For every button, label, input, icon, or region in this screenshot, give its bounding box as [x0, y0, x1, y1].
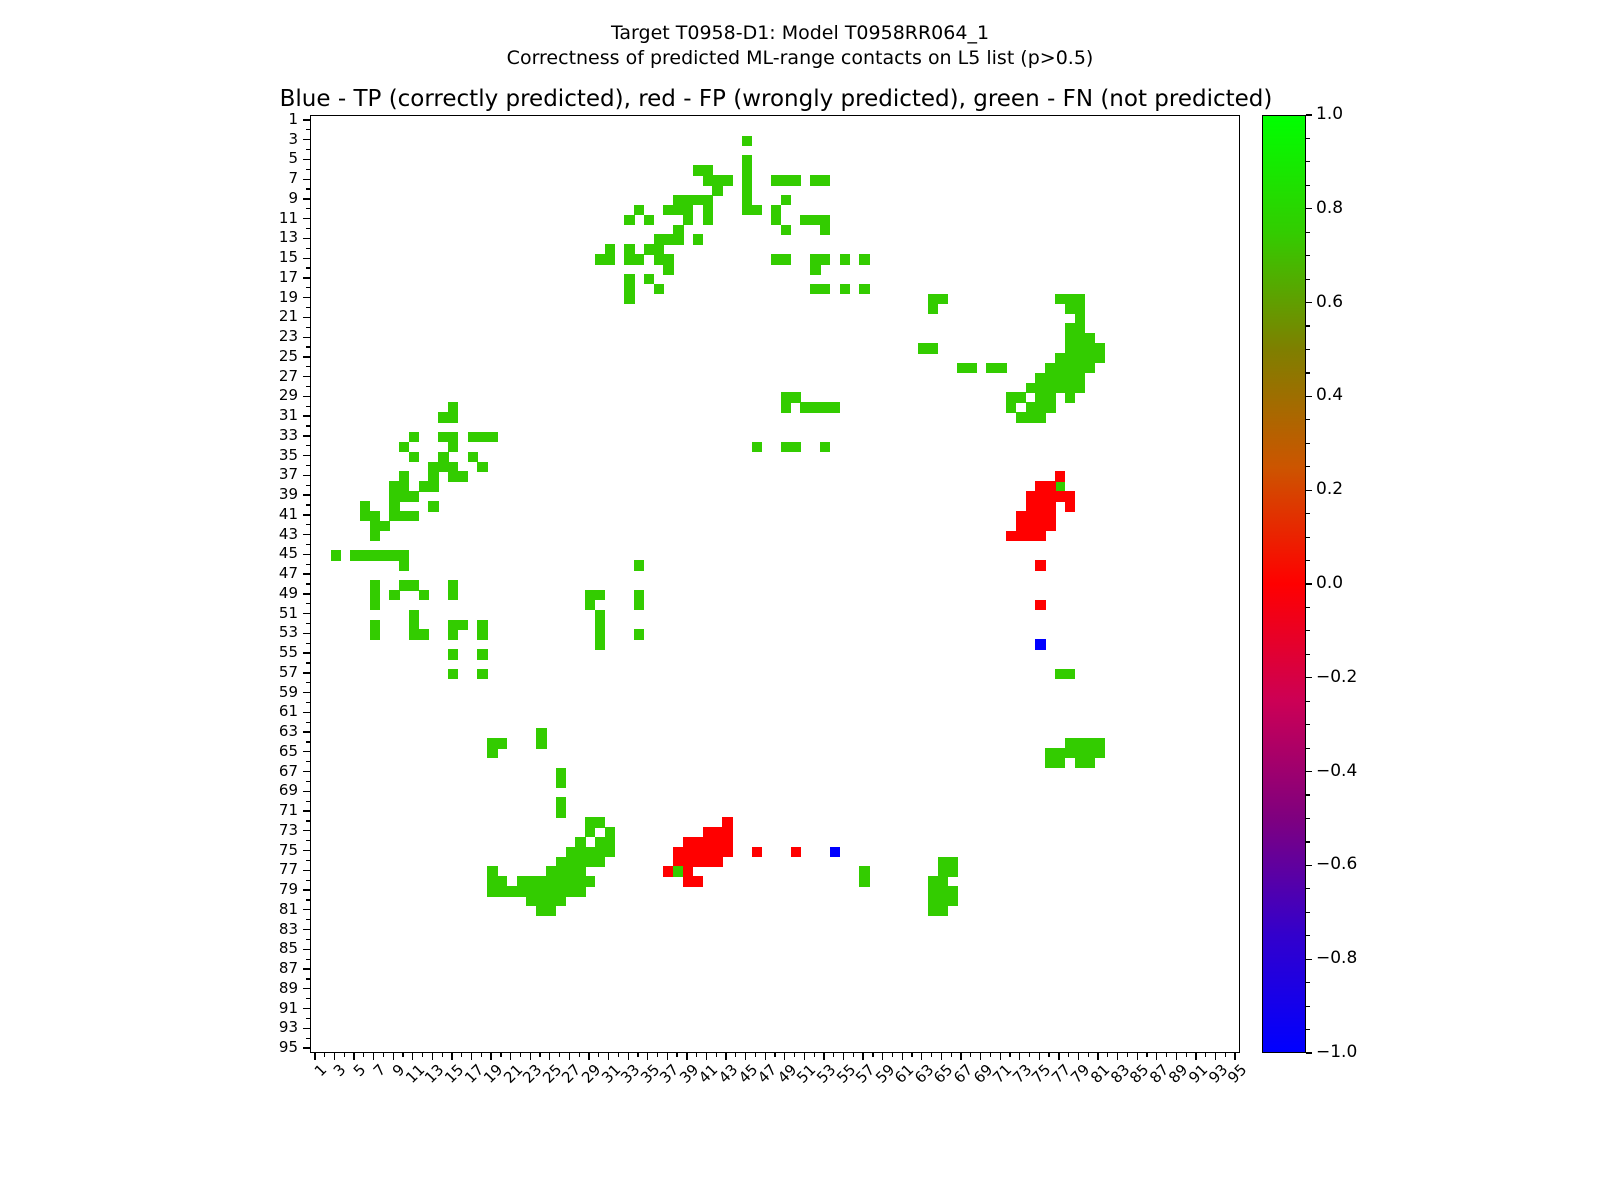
y-tick-label: 35 — [178, 448, 298, 463]
x-tick-mark — [1137, 1053, 1138, 1060]
y-tick-mark — [306, 603, 310, 604]
y-tick-label: 47 — [178, 566, 298, 581]
contact-cell-mirror — [1094, 343, 1104, 353]
contact-cell-mirror — [781, 195, 791, 205]
y-tick-label: 27 — [178, 369, 298, 384]
colorbar-minor-tick — [1306, 138, 1310, 139]
colorbar-minor-tick — [1306, 1029, 1310, 1030]
contact-cell-mirror — [634, 560, 644, 570]
x-tick-mark — [628, 1053, 629, 1060]
x-tick-mark — [393, 1053, 394, 1060]
x-tick-mark — [1117, 1053, 1118, 1060]
colorbar-tick-label: −0.2 — [1316, 669, 1357, 686]
contact-cell-mirror — [409, 511, 419, 521]
colorbar-tick-mark — [1306, 302, 1312, 303]
contact-cell-mirror — [605, 244, 615, 254]
contact-cell-mirror — [477, 462, 487, 472]
y-tick-label: 53 — [178, 625, 298, 640]
contact-cell-mirror — [575, 857, 585, 867]
contact-cell — [1065, 669, 1075, 679]
x-tick-mark — [980, 1053, 981, 1060]
y-tick-mark — [306, 623, 310, 624]
y-tick-label: 71 — [178, 803, 298, 818]
colorbar-tick-mark — [1306, 959, 1312, 960]
colorbar-minor-tick — [1306, 748, 1310, 749]
y-tick-mark — [306, 939, 310, 940]
y-tick-mark — [303, 692, 310, 693]
contact-cell-mirror — [350, 550, 360, 560]
x-tick-mark — [588, 1053, 589, 1060]
colorbar-tick-mark — [1306, 865, 1312, 866]
y-tick-label: 43 — [178, 527, 298, 542]
contact-cell-mirror — [644, 274, 654, 284]
y-tick-mark — [303, 712, 310, 713]
contact-cell-mirror — [1035, 560, 1045, 570]
x-tick-mark — [353, 1053, 354, 1060]
colorbar-minor-tick — [1306, 888, 1310, 889]
colorbar-gradient — [1262, 115, 1306, 1053]
y-tick-label: 57 — [178, 665, 298, 680]
y-tick-mark — [306, 327, 310, 328]
x-tick-mark — [755, 1053, 756, 1057]
x-tick-mark — [1176, 1053, 1177, 1060]
y-tick-mark — [303, 593, 310, 594]
x-tick-mark — [784, 1053, 785, 1060]
y-tick-mark — [306, 386, 310, 387]
contact-cell-mirror — [634, 600, 644, 610]
x-tick-mark — [804, 1053, 805, 1060]
y-tick-label: 65 — [178, 744, 298, 759]
colorbar-minor-tick — [1306, 466, 1310, 467]
contact-cell — [448, 669, 458, 679]
contact-cell — [487, 748, 497, 758]
y-tick-label: 95 — [178, 1040, 298, 1055]
x-tick-mark — [735, 1053, 736, 1057]
contact-cell-mirror — [1035, 521, 1045, 531]
colorbar-minor-tick — [1306, 279, 1310, 280]
y-tick-mark — [306, 208, 310, 209]
x-tick-mark — [1225, 1053, 1226, 1057]
y-tick-mark — [303, 297, 310, 298]
contact-cell-mirror — [967, 363, 977, 373]
contact-cell — [477, 629, 487, 639]
y-tick-mark — [303, 475, 310, 476]
contact-cell-mirror — [703, 165, 713, 175]
x-tick-mark — [373, 1053, 374, 1060]
contact-cell-mirror — [1055, 669, 1065, 679]
contact-cell-mirror — [370, 600, 380, 610]
y-tick-label: 17 — [178, 270, 298, 285]
contact-cell — [703, 215, 713, 225]
y-tick-mark — [303, 494, 310, 495]
y-tick-mark — [303, 376, 310, 377]
x-tick-mark — [902, 1053, 903, 1060]
contact-cell — [1045, 521, 1055, 531]
y-tick-label: 25 — [178, 349, 298, 364]
x-tick-mark — [451, 1053, 452, 1060]
y-tick-mark — [306, 978, 310, 979]
colorbar-tick-label: −0.8 — [1316, 950, 1357, 967]
y-tick-mark — [303, 672, 310, 673]
y-tick-mark — [303, 317, 310, 318]
y-tick-label: 59 — [178, 685, 298, 700]
contact-cell — [624, 294, 634, 304]
y-tick-label: 39 — [178, 487, 298, 502]
y-tick-label: 7 — [178, 171, 298, 186]
x-tick-mark — [951, 1053, 952, 1057]
x-tick-mark — [598, 1053, 599, 1057]
contact-cell-mirror — [742, 165, 752, 175]
colorbar-minor-tick — [1306, 185, 1310, 186]
colorbar-minor-tick — [1306, 232, 1310, 233]
y-tick-mark — [306, 485, 310, 486]
y-tick-mark — [306, 1018, 310, 1019]
contact-cell-mirror — [409, 491, 419, 501]
colorbar-minor-tick — [1306, 490, 1310, 491]
contact-cell-mirror — [752, 442, 762, 452]
y-tick-mark — [306, 722, 310, 723]
colorbar-minor-tick — [1306, 537, 1310, 538]
contact-cell-mirror — [477, 649, 487, 659]
x-tick-mark — [637, 1053, 638, 1057]
y-tick-mark — [303, 633, 310, 634]
colorbar-minor-tick — [1306, 513, 1310, 514]
contact-cell-mirror — [830, 402, 840, 412]
x-tick-mark — [422, 1053, 423, 1057]
x-tick-mark — [559, 1053, 560, 1057]
y-tick-label: 45 — [178, 546, 298, 561]
x-tick-mark — [667, 1053, 668, 1060]
contact-cell-layer — [311, 116, 1239, 1052]
x-tick-mark — [608, 1053, 609, 1060]
colorbar-minor-tick — [1306, 607, 1310, 608]
colorbar-minor-tick — [1306, 372, 1310, 373]
y-tick-mark — [306, 366, 310, 367]
y-tick-mark — [303, 514, 310, 515]
contact-cell-mirror — [791, 442, 801, 452]
x-tick-mark — [1146, 1053, 1147, 1057]
contact-cell-mirror — [458, 620, 468, 630]
y-tick-mark — [303, 139, 310, 140]
x-tick-mark — [1097, 1053, 1098, 1060]
colorbar-minor-tick — [1306, 841, 1310, 842]
contact-cell-mirror — [409, 580, 419, 590]
contact-map-plot-area[interactable] — [310, 115, 1240, 1053]
y-tick-label: 69 — [178, 783, 298, 798]
contact-cell — [752, 205, 762, 215]
contact-cell-mirror — [938, 294, 948, 304]
y-tick-mark — [306, 544, 310, 545]
x-tick-mark — [1166, 1053, 1167, 1057]
colorbar-minor-tick — [1306, 701, 1310, 702]
contact-cell-mirror — [703, 205, 713, 215]
y-tick-mark — [306, 643, 310, 644]
colorbar-tick-label: 1.0 — [1316, 106, 1343, 123]
x-tick-mark — [696, 1053, 697, 1057]
x-tick-mark — [490, 1053, 491, 1060]
y-tick-label: 37 — [178, 467, 298, 482]
colorbar-minor-tick — [1306, 161, 1310, 162]
colorbar-tick-label: −1.0 — [1316, 1044, 1357, 1061]
contact-cell — [1094, 353, 1104, 363]
x-tick-mark — [1186, 1053, 1187, 1057]
x-tick-mark — [725, 1053, 726, 1060]
contact-cell — [536, 738, 546, 748]
x-tick-mark — [911, 1053, 912, 1057]
contact-cell-mirror — [1006, 402, 1016, 412]
contact-cell — [683, 215, 693, 225]
y-tick-mark — [303, 534, 310, 535]
y-tick-mark — [303, 870, 310, 871]
x-tick-mark — [921, 1053, 922, 1060]
x-tick-mark — [716, 1053, 717, 1057]
x-tick-mark — [432, 1053, 433, 1060]
contact-cell-mirror — [712, 857, 722, 867]
contact-cell — [820, 175, 830, 185]
y-tick-label: 15 — [178, 250, 298, 265]
y-tick-label: 93 — [178, 1020, 298, 1035]
y-tick-mark — [303, 435, 310, 436]
contact-cell-mirror — [752, 847, 762, 857]
contact-cell-mirror — [781, 402, 791, 412]
y-tick-label: 23 — [178, 329, 298, 344]
y-tick-mark — [303, 613, 310, 614]
x-tick-mark — [745, 1053, 746, 1060]
y-tick-mark — [306, 781, 310, 782]
x-tick-mark — [471, 1053, 472, 1060]
y-tick-mark — [303, 731, 310, 732]
y-tick-mark — [306, 169, 310, 170]
contact-cell — [556, 807, 566, 817]
contact-cell-mirror — [497, 738, 507, 748]
x-tick-mark — [1088, 1053, 1089, 1057]
x-tick-mark — [941, 1053, 942, 1060]
y-tick-mark — [306, 662, 310, 663]
y-tick-label: 83 — [178, 922, 298, 937]
y-tick-label: 63 — [178, 724, 298, 739]
contact-cell — [389, 590, 399, 600]
contact-cell — [634, 254, 644, 264]
contact-cell-mirror — [448, 590, 458, 600]
y-tick-mark — [303, 356, 310, 357]
y-tick-label: 41 — [178, 507, 298, 522]
contact-cell-mirror — [624, 244, 634, 254]
contact-cell-mirror — [820, 254, 830, 264]
y-tick-mark — [303, 791, 310, 792]
contact-cell-mirror — [487, 432, 497, 442]
x-tick-mark — [862, 1053, 863, 1060]
y-tick-label: 33 — [178, 428, 298, 443]
colorbar-tick-mark — [1306, 583, 1312, 584]
contact-cell-mirror — [820, 225, 830, 235]
contact-cell-mirror — [380, 550, 390, 560]
y-tick-mark — [306, 149, 310, 150]
y-tick-mark — [306, 307, 310, 308]
x-tick-mark — [1048, 1053, 1049, 1057]
y-tick-mark — [306, 287, 310, 288]
y-tick-mark — [303, 850, 310, 851]
contact-cell-mirror — [996, 363, 1006, 373]
contact-cell-mirror — [1045, 402, 1055, 412]
contact-cell-mirror — [928, 343, 938, 353]
x-tick-mark — [706, 1053, 707, 1060]
contact-cell-mirror — [1094, 738, 1104, 748]
contact-cell-mirror — [448, 412, 458, 422]
y-tick-mark — [303, 554, 310, 555]
x-tick-mark — [647, 1053, 648, 1060]
x-tick-mark — [931, 1053, 932, 1057]
colorbar-minor-tick — [1306, 935, 1310, 936]
contact-cell-mirror — [624, 284, 634, 294]
colorbar-tick-label: 0.0 — [1316, 575, 1343, 592]
contact-cell-mirror — [1084, 758, 1094, 768]
y-tick-mark — [306, 682, 310, 683]
colorbar-minor-tick — [1306, 349, 1310, 350]
contact-cell-mirror — [928, 304, 938, 314]
y-tick-mark — [306, 425, 310, 426]
contact-cell-mirror — [595, 620, 605, 630]
x-tick-mark — [579, 1053, 580, 1057]
y-tick-mark — [306, 761, 310, 762]
contact-cell — [595, 857, 605, 867]
y-tick-label: 77 — [178, 862, 298, 877]
y-tick-mark — [303, 949, 310, 950]
x-tick-mark — [1127, 1053, 1128, 1057]
y-tick-mark — [306, 1038, 310, 1039]
y-tick-mark — [303, 909, 310, 910]
y-tick-mark — [303, 830, 310, 831]
y-tick-label: 3 — [178, 132, 298, 147]
contact-cell-mirror — [448, 442, 458, 452]
contact-cell-mirror — [585, 827, 595, 837]
colorbar-tick-mark — [1306, 1052, 1312, 1053]
contact-cell — [419, 590, 429, 600]
y-tick-mark — [303, 1008, 310, 1009]
colorbar-minor-tick — [1306, 325, 1310, 326]
contact-cell-mirror — [947, 896, 957, 906]
contact-cell — [605, 254, 615, 264]
y-tick-mark — [306, 346, 310, 347]
x-tick-mark — [1205, 1053, 1206, 1057]
contact-cell — [1065, 501, 1075, 511]
y-tick-mark — [306, 899, 310, 900]
x-tick-mark — [402, 1053, 403, 1057]
contact-cell-mirror — [820, 284, 830, 294]
colorbar-minor-tick — [1306, 443, 1310, 444]
x-tick-mark — [383, 1053, 384, 1057]
contact-cell-mirror — [1035, 600, 1045, 610]
contact-cell — [781, 254, 791, 264]
y-tick-mark — [306, 998, 310, 999]
y-tick-label: 19 — [178, 290, 298, 305]
contact-cell-mirror — [781, 225, 791, 235]
y-tick-mark — [306, 702, 310, 703]
y-tick-mark — [306, 959, 310, 960]
y-tick-mark — [306, 228, 310, 229]
contact-cell-mirror — [771, 175, 781, 185]
colorbar-minor-tick — [1306, 912, 1310, 913]
contact-cell — [605, 847, 615, 857]
y-tick-label: 13 — [178, 230, 298, 245]
x-tick-mark — [314, 1053, 315, 1060]
x-tick-mark — [1215, 1053, 1216, 1060]
contact-cell-mirror — [693, 876, 703, 886]
x-tick-mark — [833, 1053, 834, 1057]
y-tick-mark — [306, 465, 310, 466]
contact-cell — [840, 254, 850, 264]
contact-cell-mirror — [673, 205, 683, 215]
contact-cell — [810, 264, 820, 274]
y-tick-mark — [303, 258, 310, 259]
figure-suptitle-line-1: Target T0958-D1: Model T0958RR064_1 — [0, 21, 1600, 46]
contact-cell-mirror — [477, 620, 487, 630]
x-tick-mark — [843, 1053, 844, 1060]
y-tick-mark — [303, 652, 310, 653]
colorbar-minor-tick — [1306, 724, 1310, 725]
x-tick-mark — [1019, 1053, 1020, 1060]
contact-cell-mirror — [1055, 471, 1065, 481]
x-tick-mark — [814, 1053, 815, 1057]
colorbar-minor-tick — [1306, 630, 1310, 631]
contact-cell — [331, 550, 341, 560]
contact-cell-mirror — [654, 244, 664, 254]
contact-cell-mirror — [595, 639, 605, 649]
contact-cell-mirror — [644, 215, 654, 225]
y-tick-mark — [303, 1028, 310, 1029]
contact-cell-mirror — [448, 649, 458, 659]
contact-cell-mirror — [380, 521, 390, 531]
colorbar-minor-tick — [1306, 794, 1310, 795]
contact-cell-mirror — [409, 620, 419, 630]
x-tick-mark — [853, 1053, 854, 1057]
x-tick-mark — [1156, 1053, 1157, 1060]
x-tick-mark — [1195, 1053, 1196, 1060]
y-tick-mark — [306, 267, 310, 268]
contact-cell — [448, 629, 458, 639]
x-tick-mark — [1000, 1053, 1001, 1060]
contact-cell — [595, 590, 605, 600]
x-tick-mark — [500, 1053, 501, 1057]
y-tick-mark — [303, 396, 310, 397]
y-tick-mark — [303, 988, 310, 989]
colorbar-minor-tick — [1306, 654, 1310, 655]
y-tick-mark — [303, 238, 310, 239]
y-tick-mark — [303, 1047, 310, 1048]
x-tick-mark — [657, 1053, 658, 1057]
x-tick-mark — [686, 1053, 687, 1060]
y-tick-mark — [303, 929, 310, 930]
y-tick-mark — [303, 198, 310, 199]
contact-cell-mirror — [859, 284, 869, 294]
contact-cell-mirror — [399, 471, 409, 481]
x-tick-mark — [960, 1053, 961, 1060]
x-tick-mark — [1009, 1053, 1010, 1057]
x-tick-mark — [334, 1053, 335, 1060]
y-tick-label: 9 — [178, 191, 298, 206]
y-tick-label: 31 — [178, 408, 298, 423]
contact-cell — [663, 264, 673, 274]
colorbar[interactable]: 1.00.80.60.40.20.0−0.2−0.4−0.6−0.8−1.0 — [1262, 115, 1306, 1053]
y-tick-label: 21 — [178, 309, 298, 324]
y-tick-mark — [303, 277, 310, 278]
y-tick-mark — [306, 129, 310, 130]
contact-cell-mirror — [399, 560, 409, 570]
y-tick-label: 5 — [178, 151, 298, 166]
colorbar-minor-tick — [1306, 396, 1310, 397]
y-tick-mark — [303, 455, 310, 456]
contact-cell — [673, 234, 683, 244]
colorbar-minor-tick — [1306, 1006, 1310, 1007]
